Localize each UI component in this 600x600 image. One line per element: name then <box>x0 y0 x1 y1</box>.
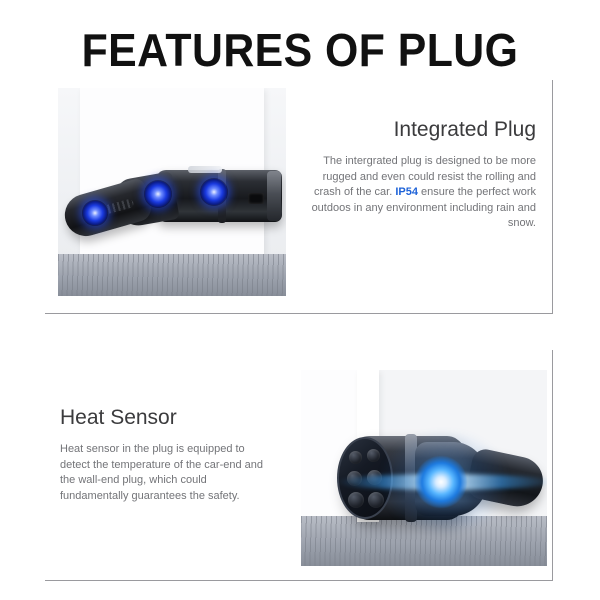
plug-pin-hole-1 <box>349 451 362 464</box>
plug-port-slot <box>248 193 264 204</box>
plug-glow-core <box>415 456 467 508</box>
feature-heading-integrated-plug: Integrated Plug <box>300 116 536 144</box>
plug-tip-face <box>267 171 281 221</box>
photo-floor <box>58 254 286 296</box>
plug-illustration-side <box>60 148 286 258</box>
feature-text-integrated-plug: Integrated Plug The intergrated plug is … <box>300 116 536 232</box>
feature-text-heat-sensor: Heat Sensor Heat sensor in the plug is e… <box>60 404 274 504</box>
feature-body-highlight-ip54: IP54 <box>395 186 418 198</box>
plug-glow-dot-1 <box>82 200 108 226</box>
feature-image-integrated-plug <box>58 88 286 296</box>
photo-scene <box>301 370 547 566</box>
page-title: FEATURES OF PLUG <box>21 22 579 78</box>
feature-image-heat-sensor <box>301 370 547 566</box>
plug-pin-hole-2 <box>367 449 380 462</box>
plug-glow-dot-3 <box>200 178 228 206</box>
slide-page: FEATURES OF PLUG Integrated P <box>0 0 600 600</box>
plug-glow-dot-2 <box>144 180 172 208</box>
plug-top-highlight <box>188 166 222 173</box>
plug-pin-hole-5 <box>348 492 364 508</box>
feature-body-integrated-plug: The intergrated plug is designed to be m… <box>300 154 536 232</box>
feature-heading-heat-sensor: Heat Sensor <box>60 404 274 432</box>
feature-body-heat-sensor: Heat sensor in the plug is equipped to d… <box>60 442 274 504</box>
plug-illustration-front <box>319 428 543 532</box>
photo-scene <box>58 88 286 296</box>
